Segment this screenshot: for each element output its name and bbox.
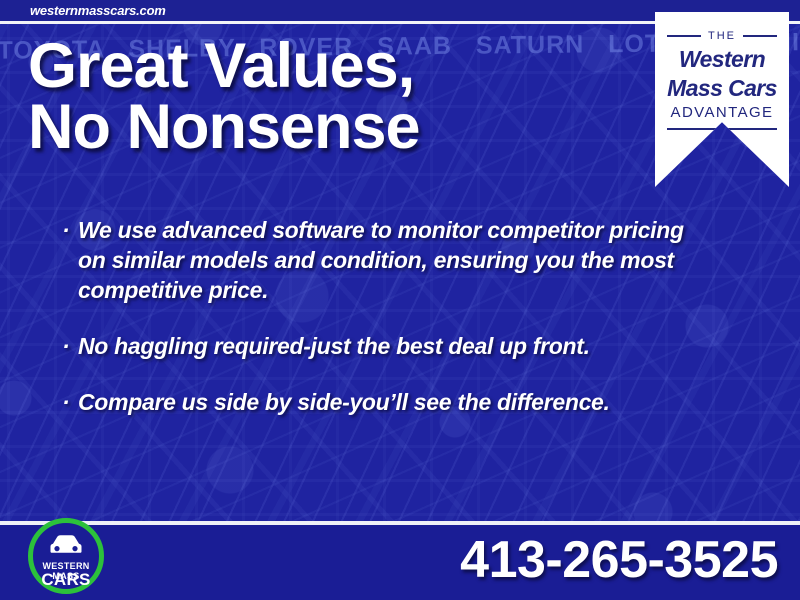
list-item-text: No haggling required-just the best deal … bbox=[78, 332, 702, 362]
logo-text-line-2: CARS bbox=[33, 570, 99, 590]
list-item-text: Compare us side by side-you’ll see the d… bbox=[78, 388, 702, 418]
ribbon-brand-line-1: Western bbox=[655, 47, 789, 71]
ribbon-content: THE Western Mass Cars ADVANTAGE bbox=[655, 30, 789, 130]
ribbon-tagline: ADVANTAGE bbox=[655, 104, 789, 121]
footer-divider bbox=[0, 521, 800, 525]
bullet-marker-icon: · bbox=[62, 332, 78, 362]
ribbon-rule-left bbox=[667, 35, 701, 37]
phone-number[interactable]: 413-265-3525 bbox=[460, 530, 778, 590]
website-url-text: westernmasscars.com bbox=[30, 3, 166, 18]
list-item: · We use advanced software to monitor co… bbox=[62, 216, 702, 306]
ribbon-eyebrow-row: THE bbox=[655, 30, 789, 42]
headline: Great Values, No Nonsense bbox=[28, 36, 628, 158]
bullet-marker-icon: · bbox=[62, 216, 78, 246]
bullet-marker-icon: · bbox=[62, 388, 78, 418]
headline-line-2: No Nonsense bbox=[28, 97, 628, 158]
ribbon-brand-line-2: Mass Cars bbox=[655, 76, 789, 100]
dealership-logo: WESTERN MASS CARS bbox=[28, 518, 104, 594]
headline-line-1: Great Values, bbox=[28, 31, 414, 101]
benefits-list: · We use advanced software to monitor co… bbox=[62, 216, 702, 443]
list-item-text: We use advanced software to monitor comp… bbox=[78, 216, 702, 306]
ribbon-eyebrow: THE bbox=[708, 30, 736, 42]
ribbon-rule-right bbox=[743, 35, 777, 37]
list-item: · No haggling required-just the best dea… bbox=[62, 332, 702, 362]
list-item: · Compare us side by side-you’ll see the… bbox=[62, 388, 702, 418]
car-icon bbox=[46, 534, 86, 563]
advertisement-banner: TOYOTA SHELBY ROVER SAAB SATURN LOTUS IN… bbox=[0, 0, 800, 600]
